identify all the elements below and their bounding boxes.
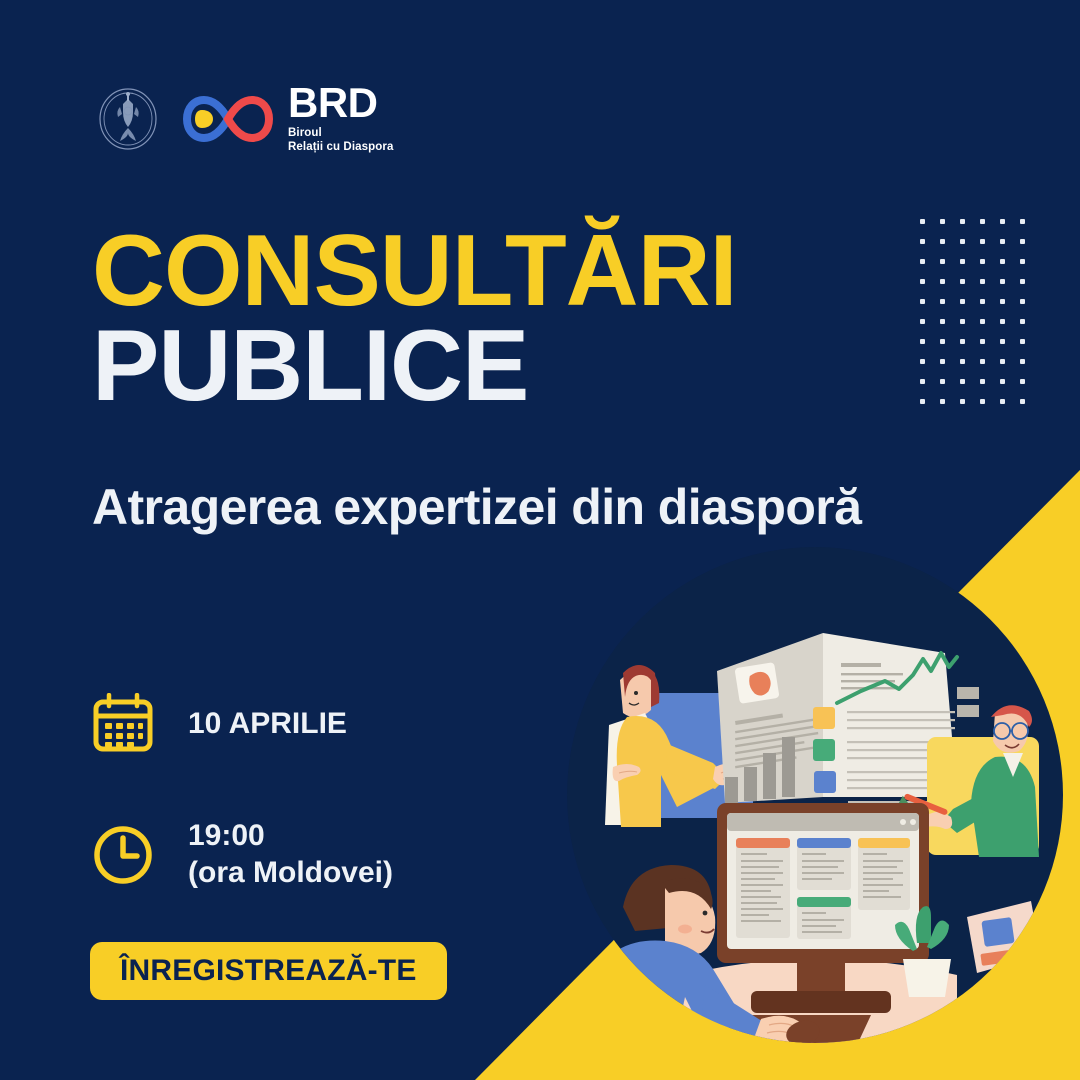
clock-icon: [92, 824, 154, 886]
grid-dot: [980, 399, 985, 404]
grid-dot: [960, 219, 965, 224]
svg-text:• • • • •: • • • • •: [123, 91, 132, 95]
brd-logo-subtitle-line1: Biroul: [288, 127, 322, 139]
grid-dot: [1000, 359, 1005, 364]
grid-dot: [980, 299, 985, 304]
grid-dot: [1000, 279, 1005, 284]
grid-dot: [920, 259, 925, 264]
brd-infinity-icon: [182, 92, 274, 146]
online-consultation-illustration: [565, 545, 1065, 1045]
grid-dot: [1000, 219, 1005, 224]
brand-logo-row: • • • • • BRD Biroul Relații cu Diaspora: [96, 78, 393, 160]
grid-dot: [1020, 299, 1025, 304]
grid-dot: [1000, 319, 1005, 324]
grid-dot: [920, 219, 925, 224]
page-title: CONSULTĂRI PUBLICE: [92, 222, 737, 416]
grid-dot: [960, 279, 965, 284]
grid-dot: [960, 399, 965, 404]
grid-dot: [920, 379, 925, 384]
brd-logo-subtitle: Biroul Relații cu Diaspora: [288, 126, 393, 155]
grid-dot: [960, 359, 965, 364]
grid-dot: [1020, 219, 1025, 224]
event-date-text: 10 APRILIE: [188, 706, 347, 743]
grid-dot: [1000, 299, 1005, 304]
grid-dot: [1000, 239, 1005, 244]
grid-dot: [920, 299, 925, 304]
dot-grid-decoration: [920, 219, 1030, 403]
brd-logo-title: BRD: [288, 83, 393, 123]
grid-dot: [940, 399, 945, 404]
register-button[interactable]: ÎNREGISTREAZĂ-TE: [90, 942, 447, 1000]
calendar-icon: [92, 693, 154, 755]
grid-dot: [940, 259, 945, 264]
headline-line-1: CONSULTĂRI: [92, 222, 737, 321]
grid-dot: [960, 339, 965, 344]
grid-dot: [1020, 399, 1025, 404]
grid-dot: [1000, 259, 1005, 264]
grid-dot: [940, 319, 945, 324]
grid-dot: [960, 239, 965, 244]
grid-dot: [1020, 239, 1025, 244]
brd-logo: BRD Biroul Relații cu Diaspora: [182, 83, 393, 155]
event-timezone: (ora Moldovei): [188, 855, 393, 892]
grid-dot: [920, 239, 925, 244]
grid-dot: [940, 279, 945, 284]
event-date-row: 10 APRILIE: [92, 693, 347, 755]
grid-dot: [920, 399, 925, 404]
grid-dot: [1020, 339, 1025, 344]
moldova-government-seal-icon: • • • • •: [96, 87, 160, 151]
grid-dot: [940, 379, 945, 384]
grid-dot: [940, 339, 945, 344]
grid-dot: [1020, 319, 1025, 324]
grid-dot: [1000, 399, 1005, 404]
grid-dot: [940, 239, 945, 244]
grid-dot: [980, 239, 985, 244]
grid-dot: [1020, 259, 1025, 264]
page-subtitle: Atragerea expertizei din diasporă: [92, 478, 861, 536]
grid-dot: [960, 259, 965, 264]
grid-dot: [980, 279, 985, 284]
brd-logo-subtitle-line2: Relații cu Diaspora: [288, 141, 393, 153]
grid-dot: [980, 359, 985, 364]
grid-dot: [940, 219, 945, 224]
poster-canvas: • • • • • BRD Biroul Relații cu Diaspora…: [0, 0, 1080, 1080]
grid-dot: [940, 359, 945, 364]
headline-line-2: PUBLICE: [92, 317, 737, 416]
grid-dot: [980, 379, 985, 384]
grid-dot: [980, 219, 985, 224]
grid-dot: [920, 319, 925, 324]
grid-dot: [1000, 339, 1005, 344]
grid-dot: [980, 259, 985, 264]
event-time-text: 19:00 (ora Moldovei): [188, 818, 393, 891]
grid-dot: [1020, 359, 1025, 364]
grid-dot: [1020, 379, 1025, 384]
grid-dot: [920, 339, 925, 344]
grid-dot: [980, 339, 985, 344]
grid-dot: [980, 319, 985, 324]
grid-dot: [960, 299, 965, 304]
grid-dot: [960, 319, 965, 324]
grid-dot: [1000, 379, 1005, 384]
grid-dot: [1020, 279, 1025, 284]
grid-dot: [940, 299, 945, 304]
grid-dot: [960, 379, 965, 384]
grid-dot: [920, 279, 925, 284]
event-time-row: 19:00 (ora Moldovei): [92, 818, 393, 891]
event-time-value: 19:00: [188, 819, 265, 852]
grid-dot: [920, 359, 925, 364]
